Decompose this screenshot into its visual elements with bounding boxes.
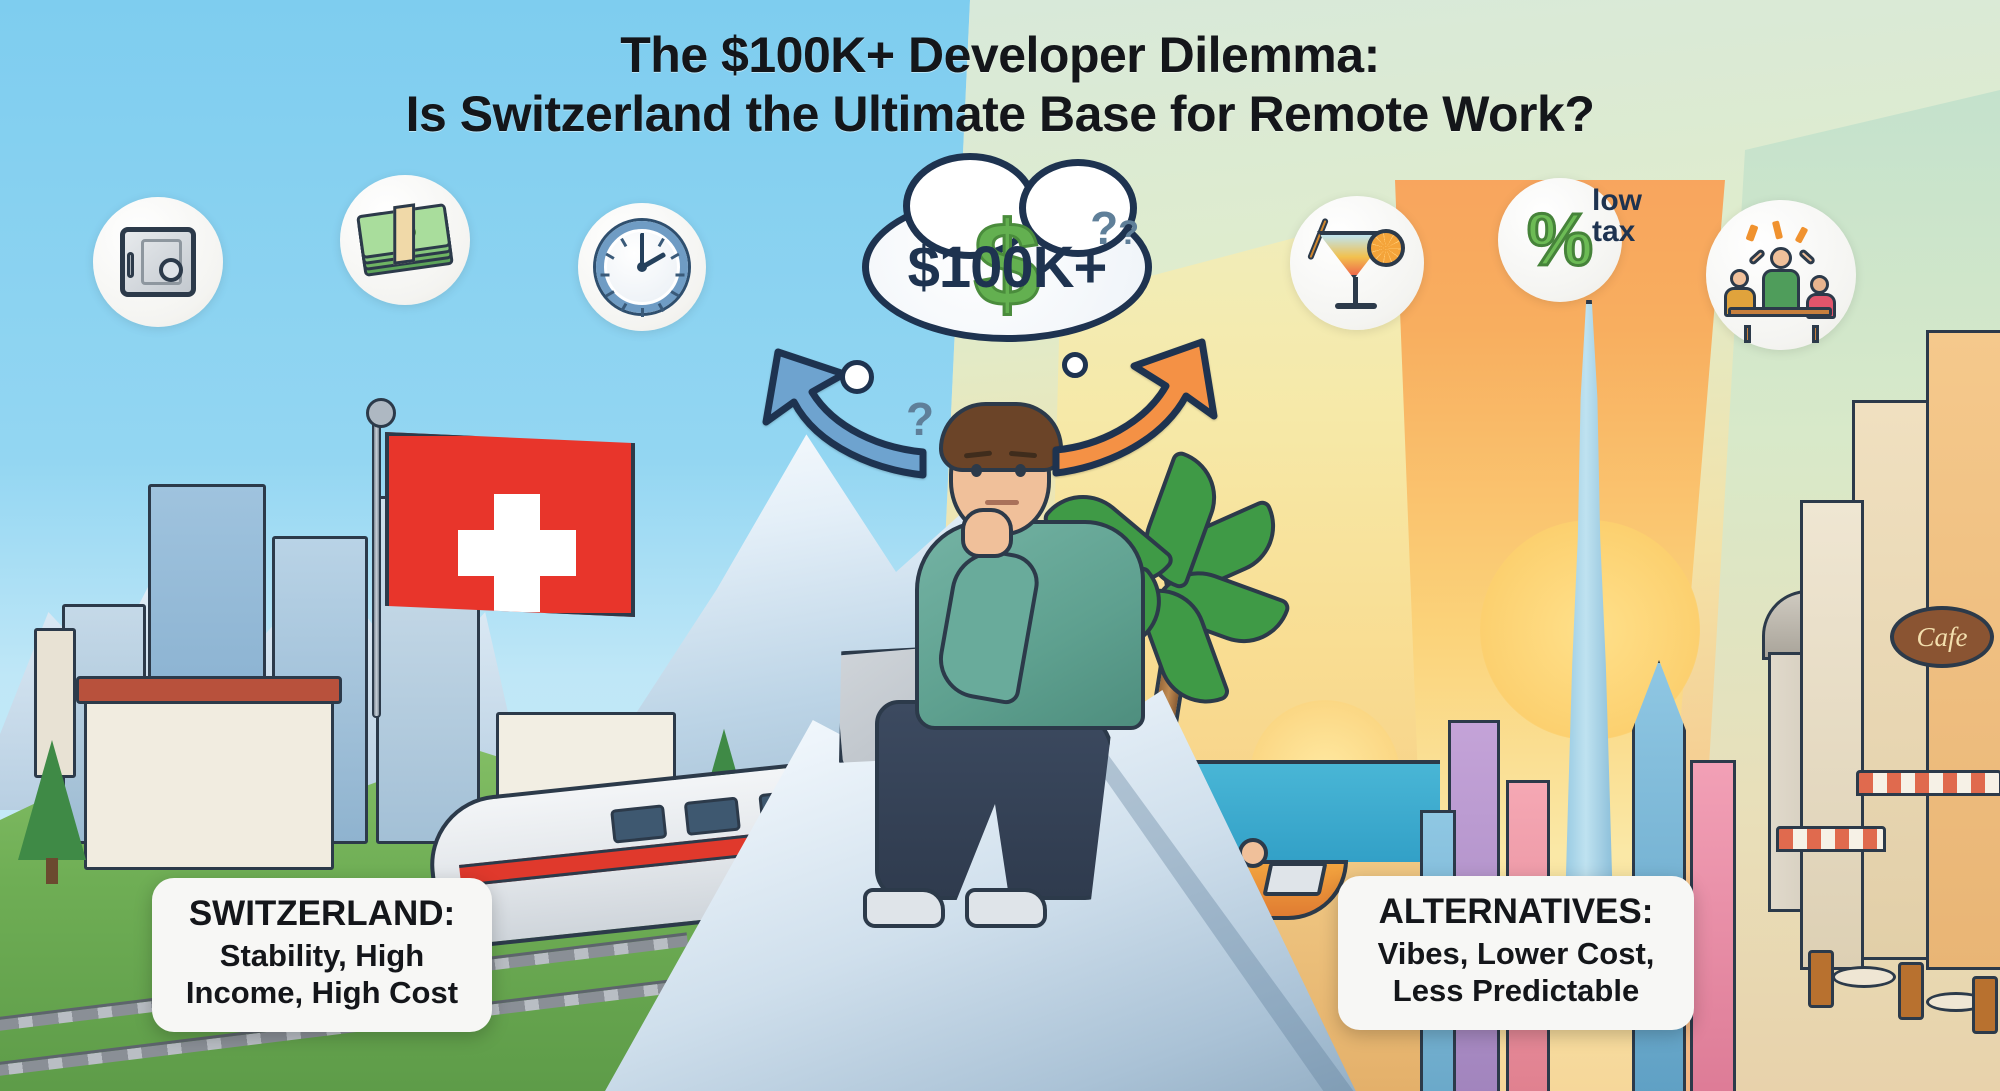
alternatives-label-box: ALTERNATIVES: Vibes, Lower Cost, Less Pr… bbox=[1338, 876, 1694, 1030]
cafe-awning bbox=[1856, 770, 2000, 796]
infographic-canvas: Cafe bbox=[0, 0, 2000, 1091]
outdoor-table bbox=[1832, 966, 1896, 988]
cafe-awning bbox=[1776, 826, 1886, 852]
outdoor-chair bbox=[1972, 976, 1998, 1034]
alternatives-label-heading: ALTERNATIVES: bbox=[1364, 892, 1668, 931]
street-building bbox=[1852, 400, 1932, 960]
flag-pole bbox=[372, 418, 381, 718]
developer-eye bbox=[1015, 464, 1026, 477]
classical-bank-building bbox=[84, 700, 334, 870]
swiss-flag-icon bbox=[385, 432, 635, 617]
thought-bubble-dot bbox=[1062, 352, 1088, 378]
developer-eye bbox=[971, 464, 982, 477]
street-building bbox=[1800, 500, 1864, 970]
salary-amount-text: $100K+ bbox=[908, 234, 1107, 301]
developer-shoe bbox=[965, 888, 1047, 928]
cafe-sign: Cafe bbox=[1890, 606, 1994, 668]
low-tax-label-line1: low bbox=[1592, 186, 1642, 217]
bank-roof bbox=[76, 676, 342, 704]
safe-icon bbox=[93, 197, 223, 327]
cash-stack-icon bbox=[340, 175, 470, 305]
switzerland-label-subtext: Stability, High Income, High Cost bbox=[178, 937, 466, 1011]
outdoor-chair bbox=[1808, 950, 1834, 1008]
hammock-laptop bbox=[1262, 862, 1327, 896]
question-mark-small: ? bbox=[1118, 214, 1139, 252]
skyline-tower bbox=[1690, 760, 1736, 1091]
low-tax-label: low tax bbox=[1592, 186, 1642, 247]
stray-question-mark: ? bbox=[906, 392, 934, 446]
developer-shoe bbox=[863, 888, 945, 928]
party-people-icon bbox=[1706, 200, 1856, 350]
title-line-2: Is Switzerland the Ultimate Base for Rem… bbox=[0, 85, 2000, 144]
developer-mouth bbox=[985, 500, 1019, 505]
percent-symbol: % bbox=[1527, 203, 1593, 277]
clock-icon bbox=[578, 203, 706, 331]
arrow-left-to-switzerland bbox=[748, 330, 928, 480]
thought-bubble-dot bbox=[840, 360, 874, 394]
outdoor-chair bbox=[1898, 962, 1924, 1020]
low-tax-label-line2: tax bbox=[1592, 217, 1642, 248]
cocktail-icon bbox=[1290, 196, 1424, 330]
developer-hand-on-chin bbox=[961, 508, 1013, 558]
arrow-right-to-alternatives bbox=[1048, 318, 1238, 478]
developer-hair bbox=[939, 402, 1063, 472]
title-line-1: The $100K+ Developer Dilemma: bbox=[620, 27, 1379, 83]
switzerland-label-heading: SWITZERLAND: bbox=[178, 894, 466, 933]
alternatives-label-subtext: Vibes, Lower Cost, Less Predictable bbox=[1364, 935, 1668, 1009]
pine-tree bbox=[18, 740, 86, 860]
orange-slice-icon bbox=[1367, 229, 1405, 267]
switzerland-label-box: SWITZERLAND: Stability, High Income, Hig… bbox=[152, 878, 492, 1032]
page-title: The $100K+ Developer Dilemma: Is Switzer… bbox=[0, 26, 2000, 144]
thought-bubble: $ $100K+ ?? bbox=[862, 192, 1152, 342]
